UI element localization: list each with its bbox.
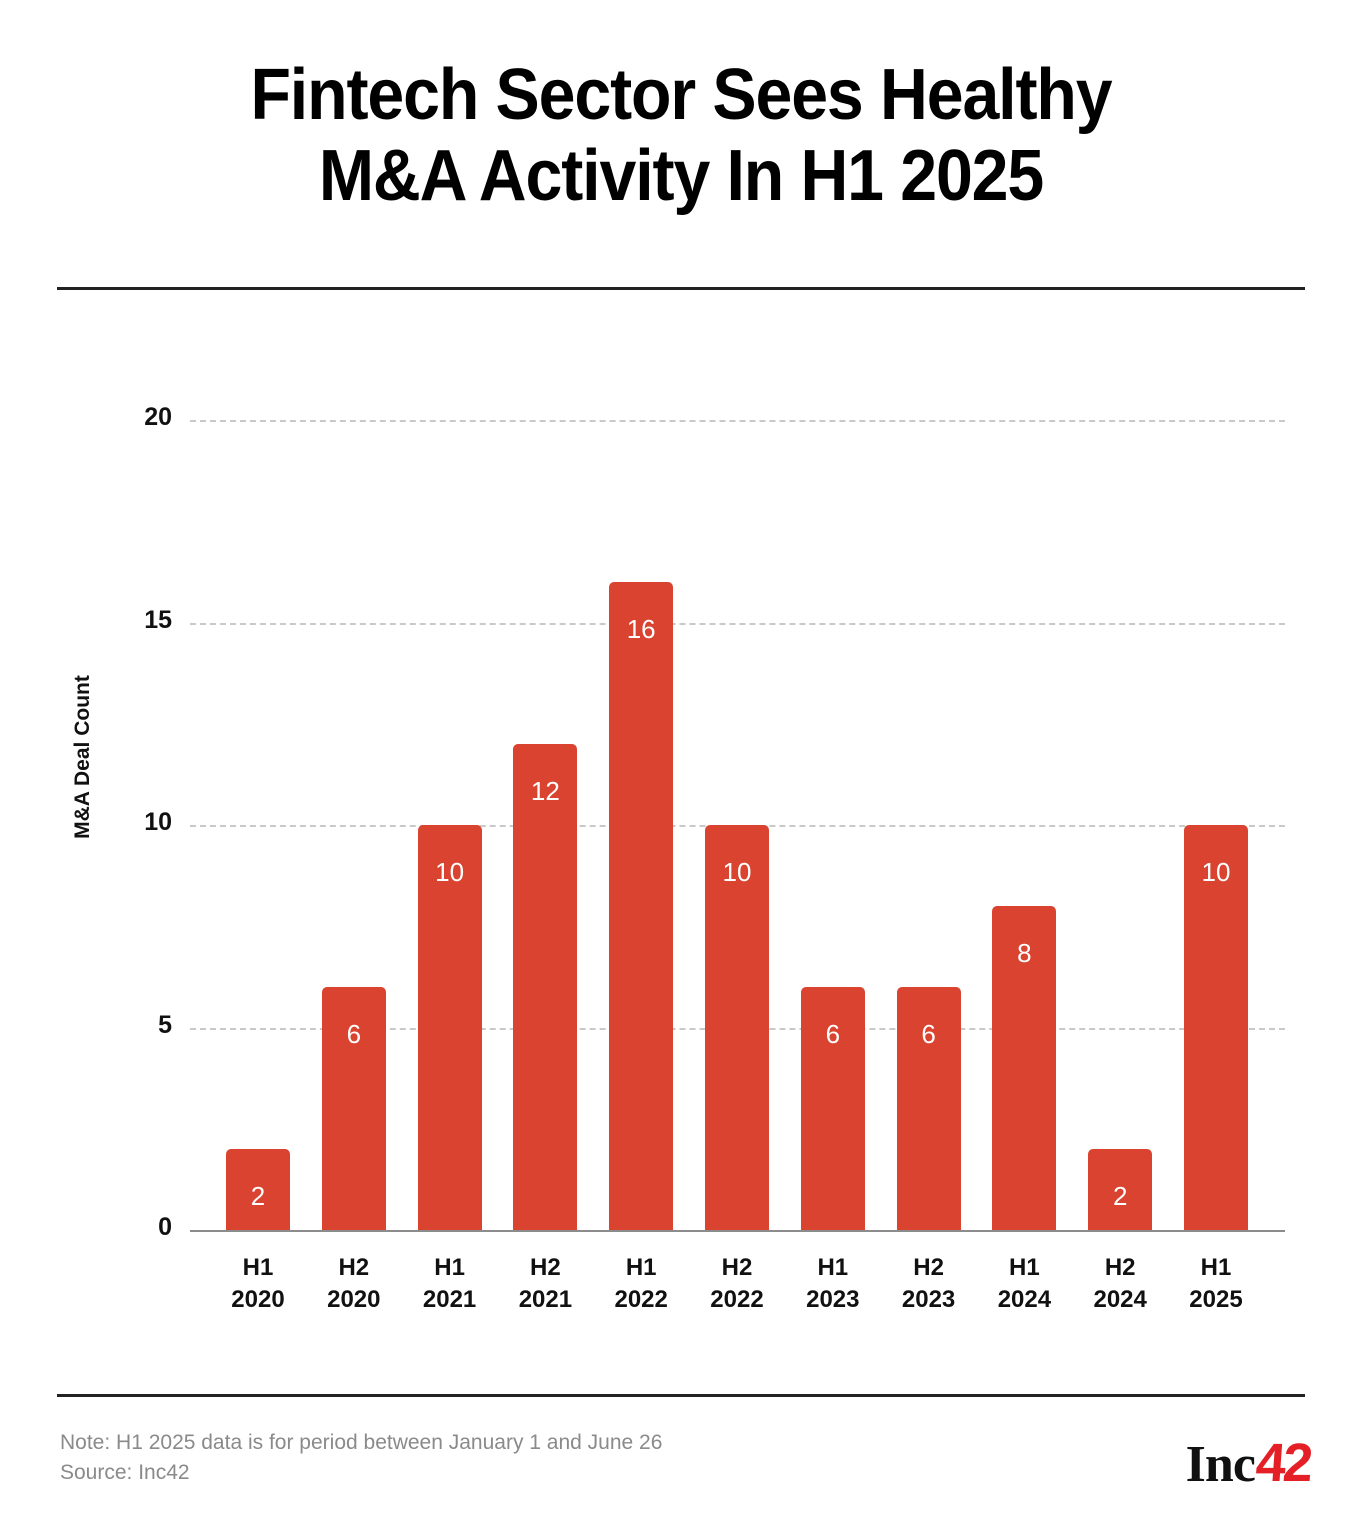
inc42-logo: Inc 42 (1186, 1432, 1310, 1488)
logo-text-inc: Inc (1186, 1435, 1255, 1494)
bar-value-label: 2 (1088, 1181, 1152, 1212)
bar[interactable] (609, 582, 673, 1230)
bar-value-label: 10 (705, 857, 769, 888)
x-tick-label: H1 2021 (398, 1252, 502, 1315)
x-tick-label: H2 2022 (685, 1252, 789, 1315)
x-tick-label: H2 2024 (1068, 1252, 1172, 1315)
x-tick-label: H2 2023 (877, 1252, 981, 1315)
bar[interactable] (513, 744, 577, 1230)
x-tick-label: H1 2020 (206, 1252, 310, 1315)
bar-value-label: 6 (897, 1019, 961, 1050)
footer-note: Note: H1 2025 data is for period between… (60, 1428, 662, 1488)
bar-value-label: 6 (801, 1019, 865, 1050)
bar-value-label: 16 (609, 614, 673, 645)
x-tick-label: H1 2024 (972, 1252, 1076, 1315)
bar-value-label: 2 (226, 1181, 290, 1212)
bar-value-label: 12 (513, 776, 577, 807)
logo-text-42: 42 (1254, 1432, 1312, 1494)
x-tick-label: H1 2023 (781, 1252, 885, 1315)
bar-value-label: 8 (992, 938, 1056, 969)
bar-value-label: 10 (1184, 857, 1248, 888)
x-tick-label: H2 2020 (302, 1252, 406, 1315)
x-tick-label: H1 2025 (1164, 1252, 1268, 1315)
bar-chart: M&A Deal Count 05101520 2610121610668210… (0, 0, 1360, 1527)
x-tick-label: H2 2021 (493, 1252, 597, 1315)
bar-value-label: 10 (418, 857, 482, 888)
x-tick-label: H1 2022 (589, 1252, 693, 1315)
footer-divider (57, 1394, 1305, 1397)
bar-value-label: 6 (322, 1019, 386, 1050)
